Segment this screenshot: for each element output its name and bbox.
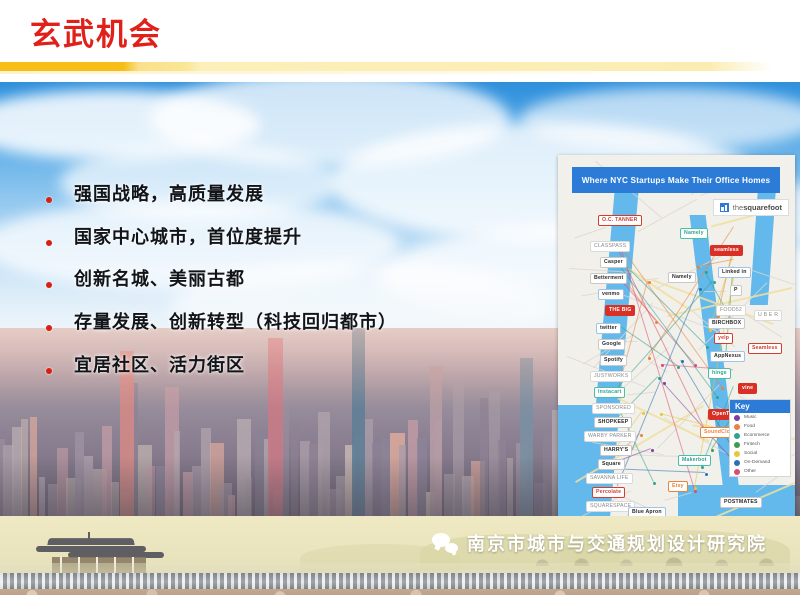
slide-header: 玄武机会 — [0, 0, 800, 82]
legend-color-swatch — [734, 424, 740, 430]
legend-color-swatch — [734, 415, 740, 421]
company-logo-label[interactable]: Seamless — [748, 343, 782, 354]
company-logo-label[interactable]: P — [730, 285, 742, 296]
map-company-pin[interactable] — [648, 357, 651, 360]
legend-label: Music — [744, 415, 757, 420]
company-logo-label[interactable]: SHOPKEEP — [594, 417, 632, 428]
footer-branding: 南京市城市与交通规划设计研究院 — [432, 530, 767, 556]
company-logo-label[interactable]: JUSTWORKS — [590, 371, 632, 382]
bullet-item: 存量发展、创新转型（科技回归都市） — [46, 313, 516, 334]
map-legend: Key MusicFoodEcommerceFintechSocialOn-De… — [729, 399, 791, 477]
company-logo-label[interactable]: POSTMATES — [720, 497, 762, 508]
cloud-shape — [520, 88, 800, 150]
organization-name: 南京市城市与交通规划设计研究院 — [467, 530, 767, 556]
title-accent-bar — [0, 62, 772, 71]
bullet-list: 强国战略，高质量发展国家中心城市，首位度提升创新名城、美丽古都存量发展、创新转型… — [46, 185, 516, 398]
bullet-marker-icon — [46, 368, 52, 374]
bullet-item: 强国战略，高质量发展 — [46, 185, 516, 206]
infographic-title-bar: Where NYC Startups Make Their Office Hom… — [572, 167, 780, 193]
map-company-pin[interactable] — [709, 329, 712, 332]
company-logo-label[interactable]: AppNexus — [710, 351, 745, 362]
map-company-pin[interactable] — [694, 364, 697, 367]
company-logo-label[interactable]: FOOD52 — [716, 305, 746, 316]
legend-item: On-Demand — [730, 458, 790, 467]
bullet-marker-icon — [46, 282, 52, 288]
company-logo-label[interactable]: Instacart — [594, 387, 625, 398]
company-logo-label[interactable]: twitter — [596, 323, 621, 334]
company-logo-label[interactable]: yelp — [714, 333, 733, 344]
page-title: 玄武机会 — [30, 9, 162, 54]
bullet-marker-icon — [46, 240, 52, 246]
company-logo-label[interactable]: BIRCHBOX — [708, 318, 745, 329]
legend-label: Food — [744, 424, 755, 429]
legend-label: Other — [744, 469, 756, 474]
company-logo-label[interactable]: Makerbot — [678, 455, 711, 466]
company-logo-label[interactable]: SAVANNA LIFE — [586, 473, 633, 484]
bullet-text: 宜居社区、活力街区 — [74, 356, 245, 377]
map-company-pin[interactable] — [661, 364, 664, 367]
company-logo-label[interactable]: Linked in — [718, 267, 751, 278]
legend-items: MusicFoodEcommerceFintechSocialOn-Demand… — [730, 413, 790, 476]
company-logo-label[interactable]: Namely — [668, 272, 696, 283]
company-logo-label[interactable]: Namely — [680, 228, 708, 239]
legend-item: Ecommerce — [730, 431, 790, 440]
legend-color-swatch — [734, 460, 740, 466]
bullet-text: 国家中心城市，首位度提升 — [74, 228, 302, 249]
squarefoot-mark-icon — [720, 203, 729, 212]
legend-label: On-Demand — [744, 460, 770, 465]
legend-label: Fintech — [744, 442, 760, 447]
company-logo-label[interactable]: U B E R — [754, 310, 782, 321]
company-logo-label[interactable]: Percolate — [592, 487, 625, 498]
company-logo-label[interactable]: Square — [598, 459, 625, 470]
infographic-title: Where NYC Startups Make Their Office Hom… — [582, 176, 771, 185]
squarefoot-brand-logo: thesquarefoot — [713, 199, 789, 216]
company-logo-label[interactable]: Betterment — [590, 273, 627, 284]
legend-item: Social — [730, 449, 790, 458]
map-company-pin[interactable] — [648, 281, 651, 284]
legend-color-swatch — [734, 442, 740, 448]
map-company-pin[interactable] — [640, 434, 643, 437]
legend-item: Food — [730, 422, 790, 431]
nyc-startup-map-infographic[interactable]: Where NYC Startups Make Their Office Hom… — [558, 155, 795, 519]
pavilion-roof-top — [47, 538, 134, 545]
tiled-roof-pattern — [0, 573, 800, 589]
bullet-marker-icon — [46, 197, 52, 203]
map-company-pin[interactable] — [655, 321, 658, 324]
company-logo-label[interactable]: seamless — [710, 245, 743, 256]
company-logo-label[interactable]: Etsy — [668, 481, 688, 492]
company-logo-label[interactable]: SPONSORED — [592, 403, 635, 414]
bullet-text: 强国战略，高质量发展 — [74, 185, 264, 206]
bullet-item: 宜居社区、活力街区 — [46, 356, 516, 377]
map-company-pin[interactable] — [699, 288, 702, 291]
presentation-slide: 玄武机会 强国战略，高质量发展国家中心城市，首位度提升创新名城、美丽古都存量发展… — [0, 0, 800, 595]
legend-color-swatch — [734, 433, 740, 439]
company-logo-label[interactable]: Casper — [600, 257, 627, 268]
legend-color-swatch — [734, 451, 740, 457]
bullet-marker-icon — [46, 325, 52, 331]
company-logo-label[interactable]: O.C. TANNER — [598, 215, 642, 226]
company-logo-label[interactable]: Google — [598, 339, 625, 350]
legend-color-swatch — [734, 469, 740, 475]
title-accent-bar-secondary — [0, 71, 690, 74]
legend-title: Key — [730, 400, 790, 413]
company-logo-label[interactable]: vine — [738, 383, 757, 394]
bullet-text: 存量发展、创新转型（科技回归都市） — [74, 313, 397, 334]
company-logo-label[interactable]: hinge — [708, 368, 731, 379]
bullet-text: 创新名城、美丽古都 — [74, 270, 245, 291]
map-company-pin[interactable] — [697, 266, 700, 269]
legend-item: Other — [730, 467, 790, 476]
company-logo-label[interactable]: HARRY'S — [600, 445, 632, 456]
company-logo-label[interactable]: THE BIG — [605, 305, 635, 316]
map-company-pin[interactable] — [694, 490, 697, 493]
map-company-pin[interactable] — [713, 281, 716, 284]
stone-wall-texture — [0, 589, 800, 595]
legend-label: Social — [744, 451, 757, 456]
map-company-pin[interactable] — [660, 413, 663, 416]
legend-item: Music — [730, 413, 790, 422]
company-logo-label[interactable]: Spotify — [600, 355, 627, 366]
squarefoot-brand-text: thesquarefoot — [733, 203, 782, 212]
wechat-icon — [432, 533, 458, 553]
legend-item: Fintech — [730, 440, 790, 449]
bullet-item: 创新名城、美丽古都 — [46, 270, 516, 291]
company-logo-label[interactable]: WARBY PARKER — [584, 431, 636, 442]
legend-label: Ecommerce — [744, 433, 770, 438]
company-logo-label[interactable]: CLASSPASS — [590, 241, 630, 252]
company-logo-label[interactable]: venmo — [598, 289, 624, 300]
bullet-item: 国家中心城市，首位度提升 — [46, 228, 516, 249]
